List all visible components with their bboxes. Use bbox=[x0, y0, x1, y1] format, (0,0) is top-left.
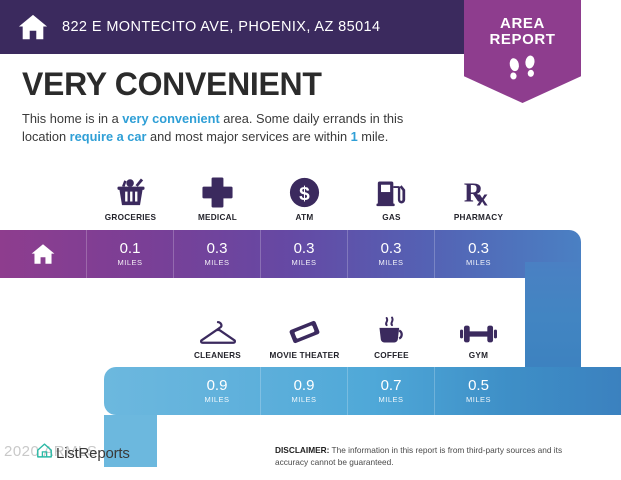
header-bar: 822 E MONTECITO AVE, PHOENIX, AZ 85014 bbox=[0, 0, 464, 54]
distance-value: 0.3 bbox=[381, 241, 402, 257]
distance-unit: MILES bbox=[204, 258, 229, 267]
distance-cell-cleaners: 0.9 MILES bbox=[174, 367, 261, 415]
distance-value: 0.3 bbox=[294, 241, 315, 257]
distance-cell-coffee: 0.7 MILES bbox=[348, 367, 435, 415]
distance-unit: MILES bbox=[291, 258, 316, 267]
service-gym: GYM bbox=[435, 300, 522, 360]
distance-unit: MILES bbox=[291, 395, 316, 404]
rx-icon: R x bbox=[463, 168, 494, 208]
service-pharmacy: R x PHARMACY bbox=[435, 162, 522, 222]
medical-cross-icon bbox=[202, 168, 233, 208]
distance-cell-medical: 0.3 MILES bbox=[174, 230, 261, 278]
area-report-page: 822 E MONTECITO AVE, PHOENIX, AZ 85014 A… bbox=[0, 0, 621, 480]
subtext-highlight-distance: 1 bbox=[351, 129, 358, 144]
grocery-basket-icon bbox=[113, 168, 149, 208]
service-label: COFFEE bbox=[374, 351, 409, 360]
subtext-part-4: mile. bbox=[358, 129, 389, 144]
gas-pump-icon bbox=[375, 168, 408, 208]
listreports-home-icon bbox=[36, 442, 53, 464]
svg-text:x: x bbox=[477, 188, 488, 208]
distance-value: 0.7 bbox=[381, 378, 402, 394]
svg-text:$: $ bbox=[299, 184, 310, 205]
distance-cell-atm: 0.3 MILES bbox=[261, 230, 348, 278]
bar-connector bbox=[525, 262, 581, 384]
service-label: MEDICAL bbox=[198, 213, 237, 222]
distance-cell-pharmacy: 0.3 MILES bbox=[435, 230, 522, 278]
headline: VERY CONVENIENT bbox=[22, 66, 322, 103]
subtext-highlight-car: require a car bbox=[70, 129, 147, 144]
coffee-cup-icon bbox=[375, 306, 409, 346]
service-label: PHARMACY bbox=[454, 213, 503, 222]
distance-value: 0.5 bbox=[468, 378, 489, 394]
distance-cell-movie-theater: 0.9 MILES bbox=[261, 367, 348, 415]
distance-value: 0.1 bbox=[120, 241, 141, 257]
subtext-part-3: and most major services are within bbox=[147, 129, 351, 144]
service-gas: GAS bbox=[348, 162, 435, 222]
distance-bar-primary: 0.1 MILES 0.3 MILES 0.3 MILES 0.3 MILES … bbox=[0, 230, 581, 278]
area-report-badge: AREA REPORT bbox=[464, 0, 581, 103]
service-label: GAS bbox=[382, 213, 401, 222]
distance-cell-gym: 0.5 MILES bbox=[435, 367, 522, 415]
service-atm: $ ATM bbox=[261, 162, 348, 222]
services-icon-row-primary: GROCERIES MEDICAL $ ATM bbox=[87, 162, 522, 222]
listreports-logo-text: ListReports bbox=[56, 445, 130, 462]
badge-line-1: AREA bbox=[500, 16, 545, 32]
subheadline: This home is in a very convenient area. … bbox=[22, 110, 440, 146]
disclaimer: DISCLAIMER: The information in this repo… bbox=[275, 444, 595, 468]
distance-unit: MILES bbox=[378, 395, 403, 404]
footprints-icon bbox=[503, 55, 543, 88]
service-coffee: COFFEE bbox=[348, 300, 435, 360]
home-icon bbox=[18, 12, 48, 42]
distance-value: 0.3 bbox=[207, 241, 228, 257]
listreports-logo: ListReports bbox=[36, 442, 130, 464]
distance-value: 0.9 bbox=[294, 378, 315, 394]
distance-cell-groceries: 0.1 MILES bbox=[87, 230, 174, 278]
distance-bar-secondary: 0.9 MILES 0.9 MILES 0.7 MILES 0.5 MILES bbox=[104, 367, 621, 415]
service-label: MOVIE THEATER bbox=[270, 351, 340, 360]
service-label: GYM bbox=[469, 351, 488, 360]
service-label: CLEANERS bbox=[194, 351, 241, 360]
service-medical: MEDICAL bbox=[174, 162, 261, 222]
service-groceries: GROCERIES bbox=[87, 162, 174, 222]
home-marker bbox=[0, 230, 87, 278]
subtext-highlight-convenient: very convenient bbox=[122, 111, 219, 126]
distance-value: 0.9 bbox=[207, 378, 228, 394]
dumbbell-icon bbox=[460, 306, 497, 346]
distance-value: 0.3 bbox=[468, 241, 489, 257]
page-title: 822 E MONTECITO AVE, PHOENIX, AZ 85014 bbox=[62, 19, 380, 35]
distance-unit: MILES bbox=[204, 395, 229, 404]
ticket-icon bbox=[287, 306, 322, 346]
service-cleaners: CLEANERS bbox=[174, 300, 261, 360]
subtext-part-1: This home is in a bbox=[22, 111, 122, 126]
distance-unit: MILES bbox=[378, 258, 403, 267]
distance-unit: MILES bbox=[466, 258, 491, 267]
distance-unit: MILES bbox=[466, 395, 491, 404]
service-label: GROCERIES bbox=[105, 213, 156, 222]
services-icon-row-secondary: CLEANERS MOVIE THEATER bbox=[174, 300, 522, 360]
service-movie-theater: MOVIE THEATER bbox=[261, 300, 348, 360]
distance-cell-gas: 0.3 MILES bbox=[348, 230, 435, 278]
distance-unit: MILES bbox=[117, 258, 142, 267]
badge-line-2: REPORT bbox=[489, 32, 555, 48]
dollar-circle-icon: $ bbox=[289, 168, 320, 208]
service-label: ATM bbox=[296, 213, 314, 222]
hanger-icon bbox=[199, 306, 237, 346]
bar-left-cap bbox=[104, 367, 174, 415]
disclaimer-label: DISCLAIMER: bbox=[275, 445, 329, 455]
